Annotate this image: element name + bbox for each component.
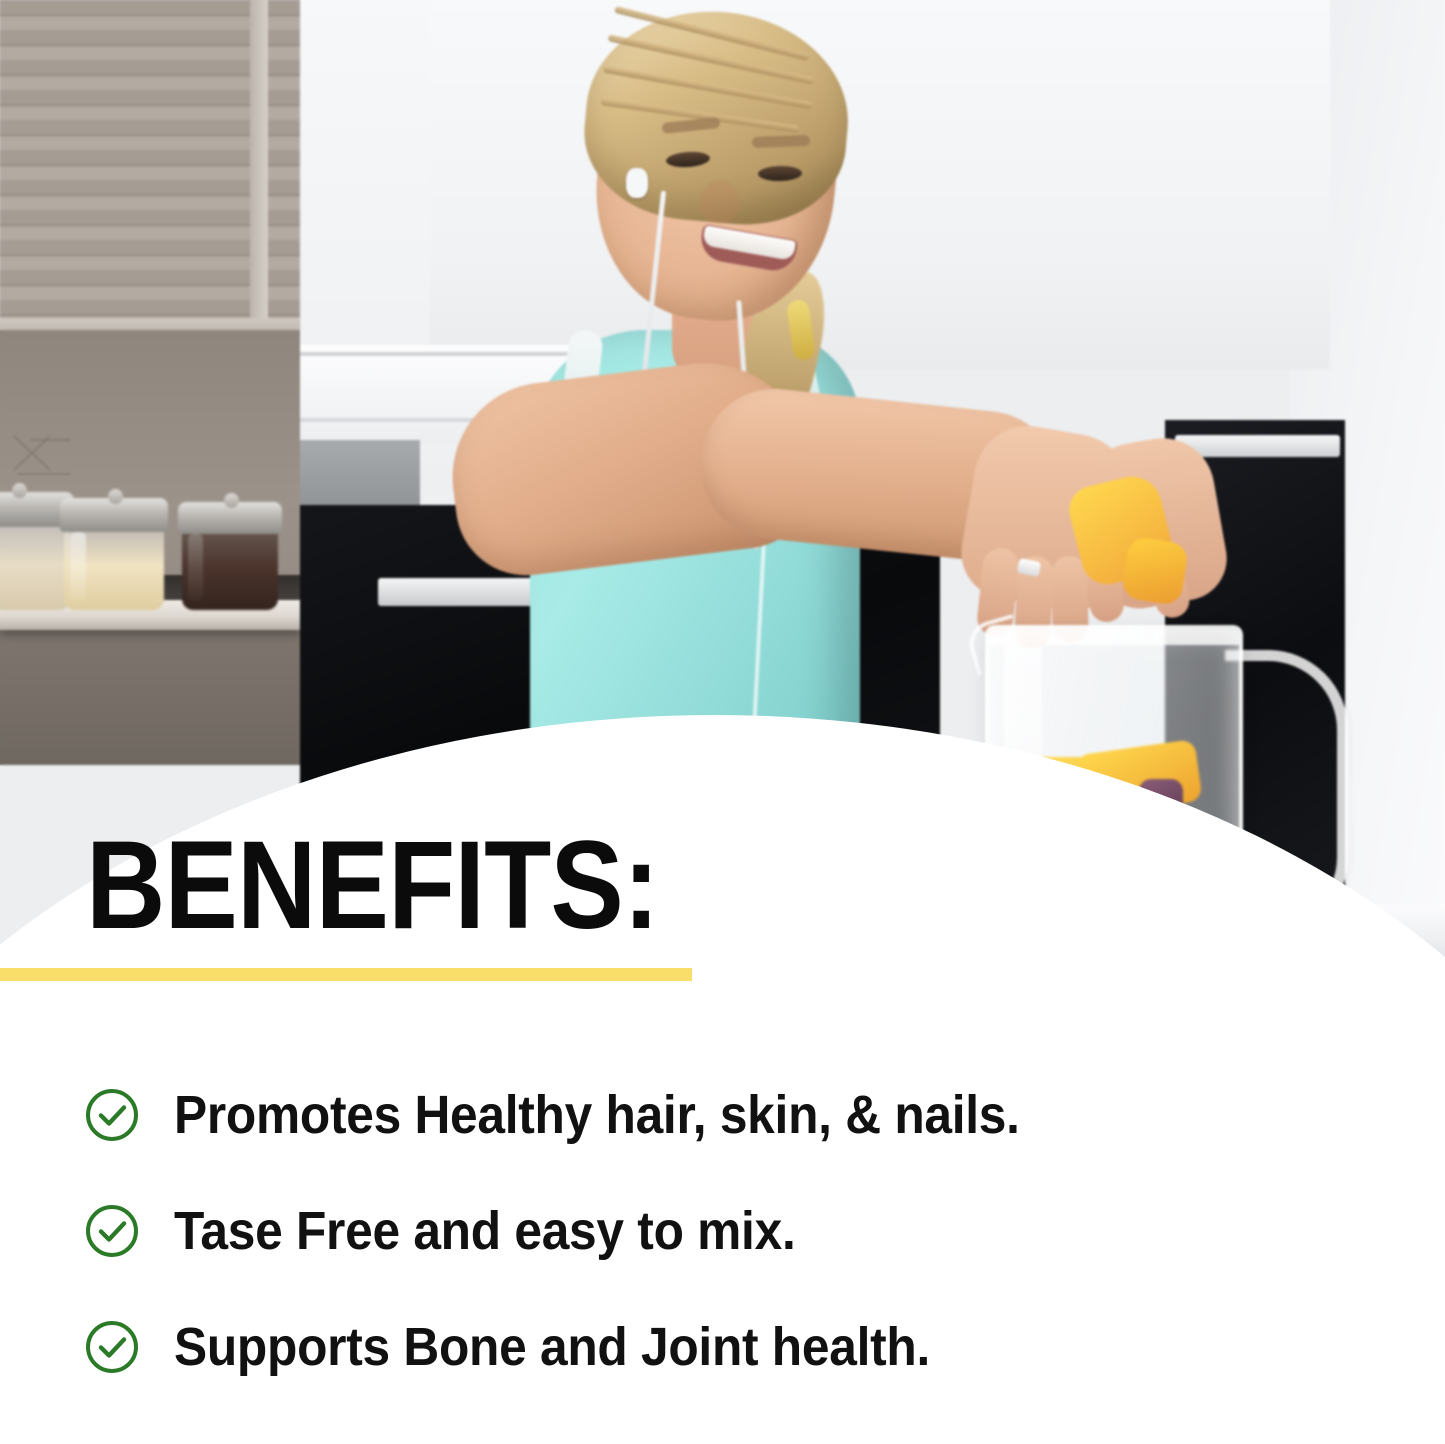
- appliance-grey-panel: [300, 440, 420, 515]
- jar-knob: [12, 483, 27, 498]
- earbud-icon: [626, 168, 648, 198]
- benefit-label: Promotes Healthy hair, skin, & nails.: [174, 1088, 1020, 1142]
- storage-jar: [182, 502, 278, 610]
- cabinet-edge: [250, 0, 268, 330]
- benefits-section: BENEFITS: Promotes Healthy hair, skin, &…: [0, 715, 1445, 1444]
- fruit-piece-in-hand: [1121, 536, 1190, 607]
- woman-eyebrow: [752, 135, 810, 148]
- jar-body: [0, 523, 70, 610]
- woman-nose: [700, 180, 740, 224]
- jar-knob: [108, 489, 123, 504]
- product-benefits-graphic: BENEFITS: Promotes Healthy hair, skin, &…: [0, 0, 1445, 1444]
- title-underline-rule: [0, 968, 692, 981]
- jar-highlight: [70, 532, 86, 601]
- benefit-label: Supports Bone and Joint health.: [174, 1320, 930, 1374]
- storage-jar: [64, 498, 164, 610]
- list-item: Supports Bone and Joint health.: [84, 1289, 1264, 1405]
- blender-rim: [989, 629, 1239, 645]
- wall-marking: [10, 430, 85, 490]
- benefit-label: Tase Free and easy to mix.: [174, 1204, 795, 1258]
- check-circle-icon: [84, 1319, 140, 1375]
- check-circle-icon: [84, 1087, 140, 1143]
- benefits-list: Promotes Healthy hair, skin, & nails. Ta…: [84, 1057, 1264, 1405]
- check-circle-icon: [84, 1203, 140, 1259]
- kitchen-wall-top: [430, 0, 1330, 370]
- list-item: Tase Free and easy to mix.: [84, 1173, 1264, 1289]
- list-item: Promotes Healthy hair, skin, & nails.: [84, 1057, 1264, 1173]
- jar-highlight: [188, 534, 203, 601]
- page-title: BENEFITS:: [86, 828, 659, 943]
